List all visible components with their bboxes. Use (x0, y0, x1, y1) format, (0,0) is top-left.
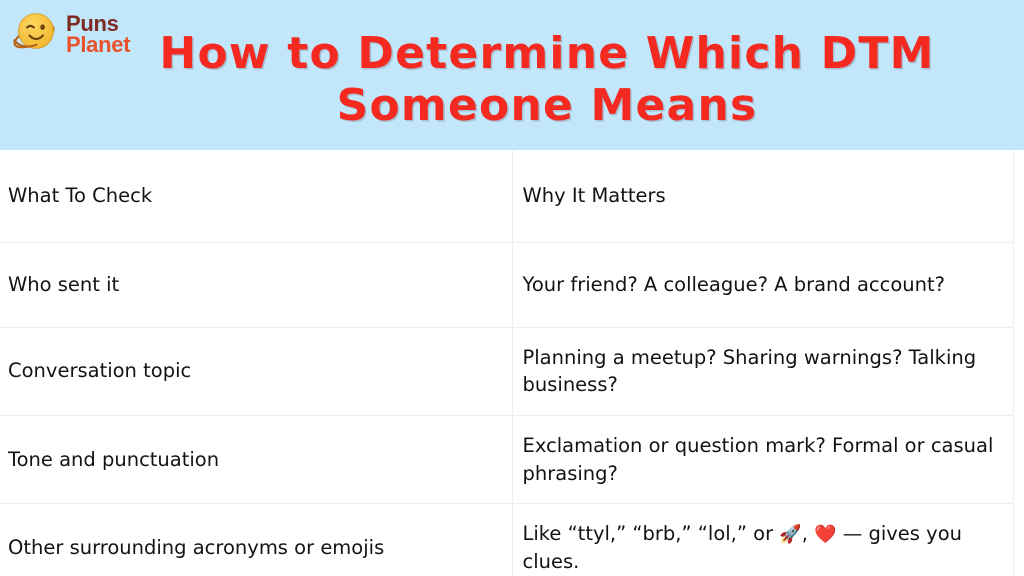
table-cell-matters-prefix: Like “ttyl,” “brb,” “lol,” or (523, 522, 780, 545)
table-cell-check: Who sent it (0, 242, 512, 327)
table-header-why-it-matters: Why It Matters (512, 150, 1013, 242)
planet-smiley-icon (10, 8, 60, 58)
table-row: Other surrounding acronyms or emojis Lik… (0, 504, 1013, 576)
comparison-table: What To Check Why It Matters Who sent it… (0, 150, 1014, 576)
table-row: Tone and punctuation Exclamation or ques… (0, 415, 1013, 503)
table-cell-check: Tone and punctuation (0, 415, 512, 503)
table-header-what-to-check: What To Check (0, 150, 512, 242)
heart-icon: ❤️ (814, 524, 836, 545)
table-cell-matters: Planning a meetup? Sharing warnings? Tal… (512, 327, 1013, 415)
table-cell-matters: Your friend? A colleague? A brand accoun… (512, 242, 1013, 327)
brand-logo: Puns Planet (10, 8, 130, 58)
header-banner: Puns Planet How to Determine Which DTM S… (0, 0, 1024, 150)
table-cell-matters: Exclamation or question mark? Formal or … (512, 415, 1013, 503)
page-title-line-1: How to Determine Which DTM (152, 28, 942, 80)
table-cell-matters: Like “ttyl,” “brb,” “lol,” or 🚀, ❤️ — gi… (512, 504, 1013, 576)
rocket-icon: 🚀 (779, 524, 801, 545)
table-row: Conversation topic Planning a meetup? Sh… (0, 327, 1013, 415)
table-row: Who sent it Your friend? A colleague? A … (0, 242, 1013, 327)
comparison-table-wrapper: What To Check Why It Matters Who sent it… (0, 150, 1024, 576)
brand-word-puns: Puns (66, 13, 130, 34)
table-header-row: What To Check Why It Matters (0, 150, 1013, 242)
table-cell-check: Conversation topic (0, 327, 512, 415)
brand-word-planet: Planet (66, 34, 130, 55)
brand-wordmark: Puns Planet (66, 11, 130, 55)
page-title: How to Determine Which DTM Someone Means (152, 28, 942, 132)
table-cell-check: Other surrounding acronyms or emojis (0, 504, 512, 576)
infographic-page: Puns Planet How to Determine Which DTM S… (0, 0, 1024, 576)
table-cell-matters-mid: , (802, 522, 814, 545)
page-title-line-2: Someone Means (152, 80, 942, 132)
